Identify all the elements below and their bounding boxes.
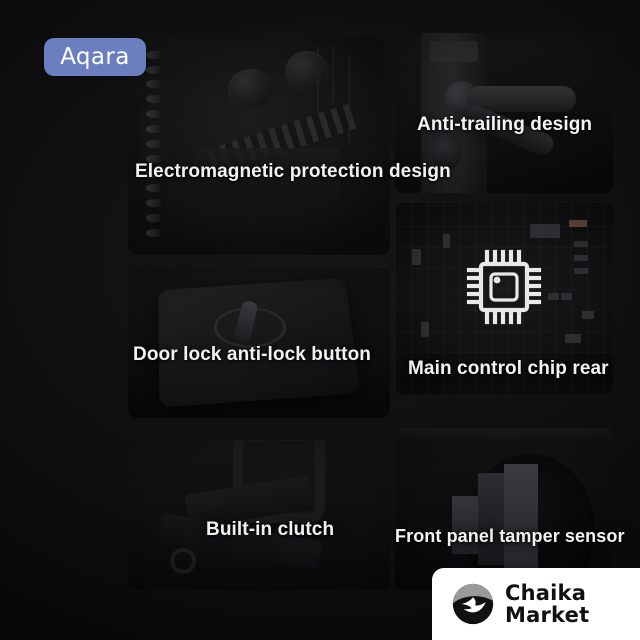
caption-main-control-chip-rear: Main control chip rear (408, 358, 609, 380)
panel-vignette (128, 268, 390, 418)
product-feature-collage: Aqara Electromagnetic protection design (0, 0, 640, 640)
caption-front-panel-tamper-sensor: Front panel tamper sensor (395, 526, 625, 547)
chaika-market-watermark: Chaika Market (432, 568, 640, 640)
caption-electromagnetic-protection: Electromagnetic protection design (135, 161, 451, 183)
panel-vignette (128, 440, 390, 590)
caption-built-in-clutch: Built-in clutch (206, 519, 334, 541)
watermark-line-1: Chaika (505, 582, 589, 604)
panel-front-panel-tamper-sensor (395, 428, 613, 590)
watermark-line-2: Market (505, 604, 589, 626)
panel-vignette (128, 33, 390, 255)
caption-anti-trailing: Anti-trailing design (417, 114, 592, 136)
aqara-logo-badge: Aqara (44, 38, 146, 76)
panel-door-lock-anti-lock-button (128, 268, 390, 418)
caption-door-lock-anti-lock-button: Door lock anti-lock button (133, 344, 371, 366)
watermark-text: Chaika Market (505, 582, 589, 626)
seagull-circle-icon (452, 583, 494, 625)
chip-icon (461, 244, 547, 330)
panel-built-in-clutch (128, 440, 390, 590)
panel-vignette (395, 428, 613, 590)
panel-electromagnetic-protection (128, 33, 390, 255)
aqara-logo-text: Aqara (60, 44, 130, 70)
